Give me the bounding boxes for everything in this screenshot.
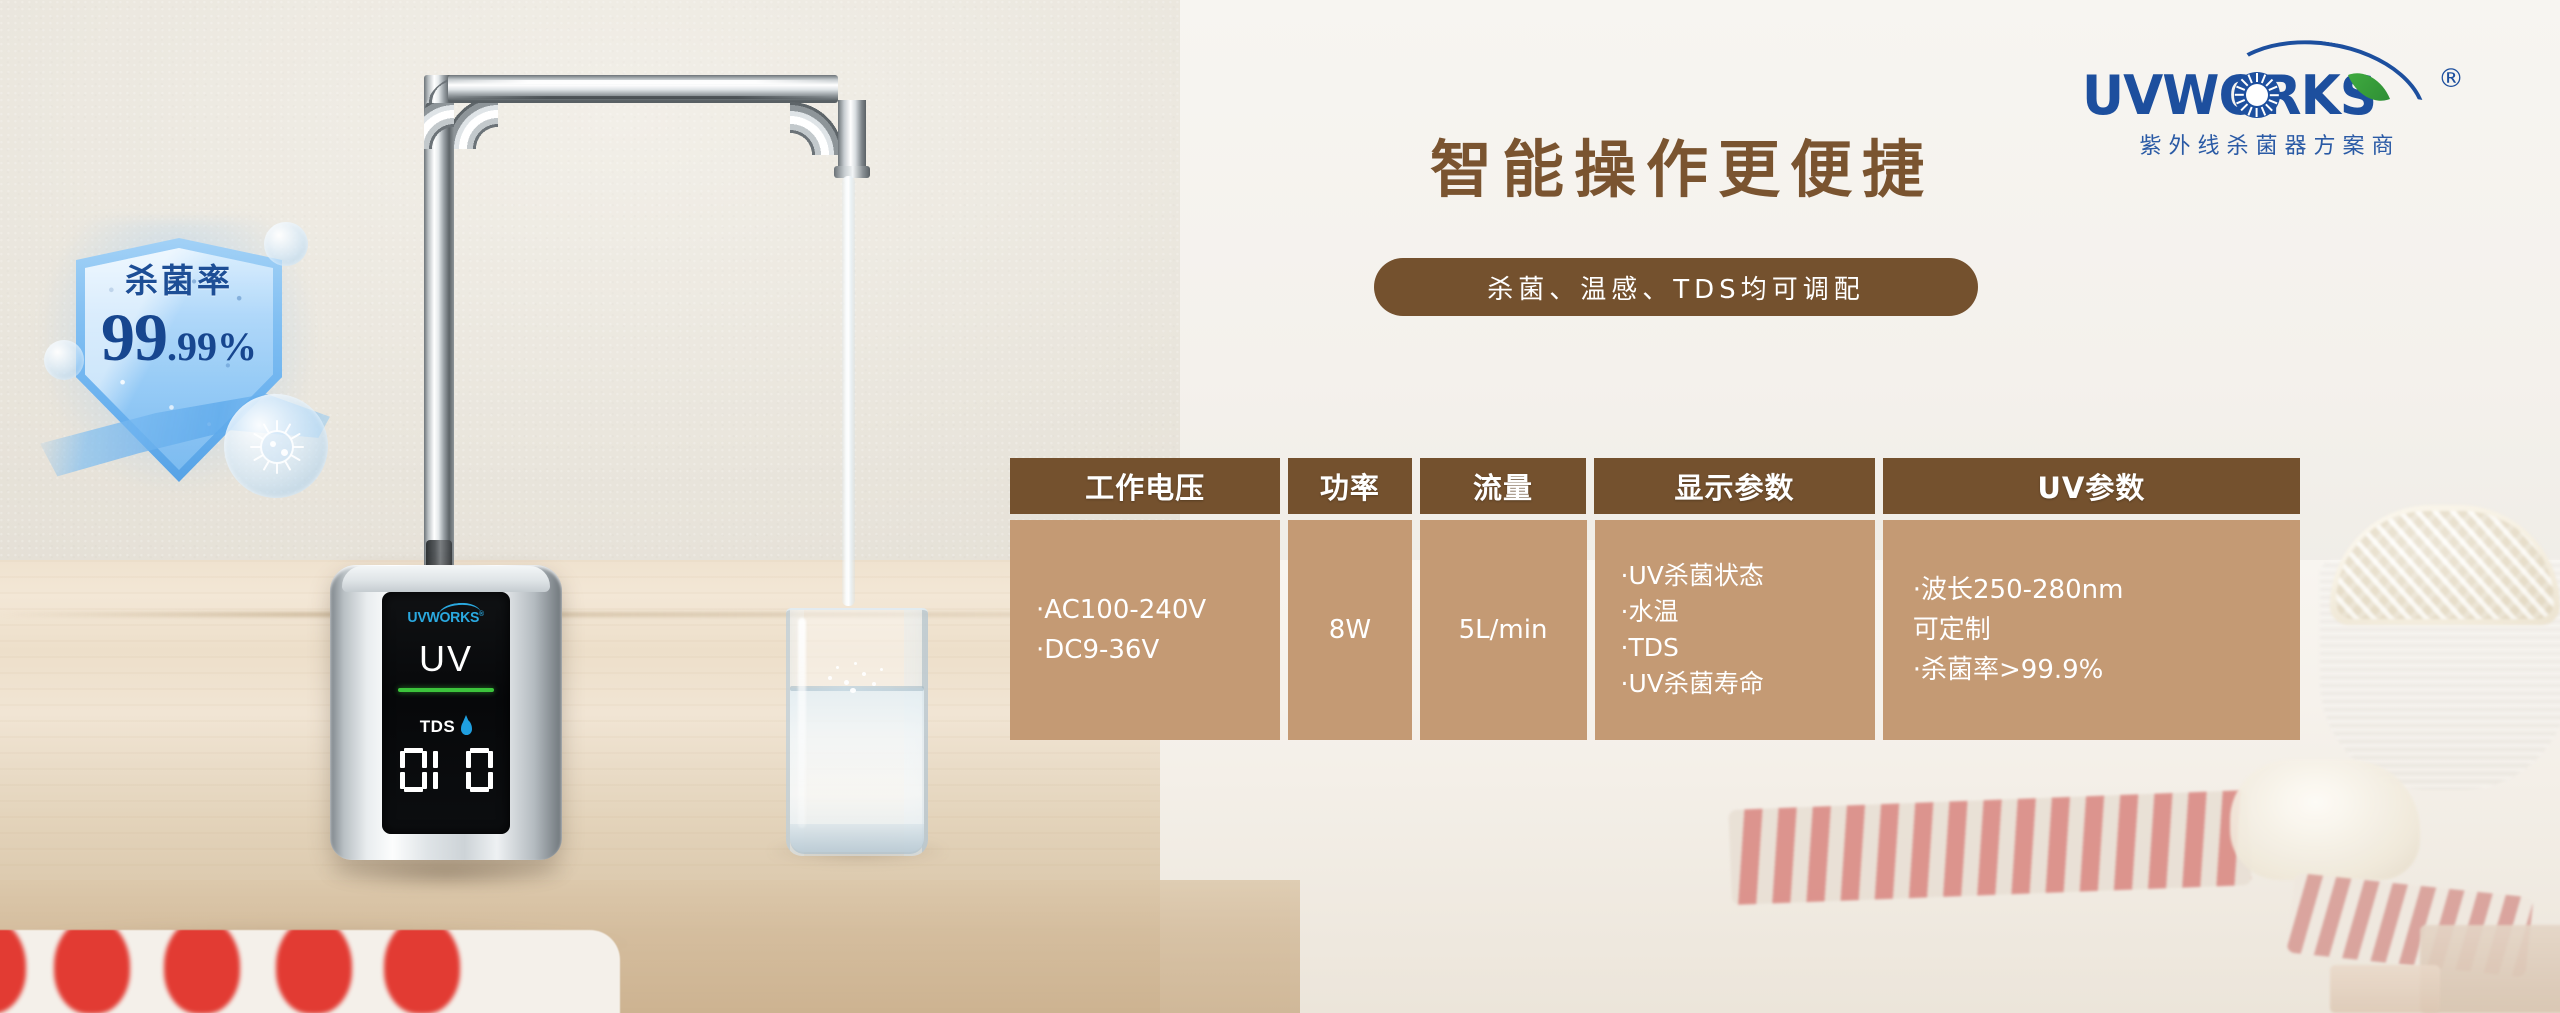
badge-value: 99.99% — [76, 303, 282, 371]
spec-body-cell: 8W — [1288, 520, 1411, 740]
screen-brand-logo: UVWORKS® — [408, 609, 484, 626]
banner-stage: UVWORKS® UV TDS — [0, 0, 2560, 1013]
spec-line: ·AC100-240V — [1036, 590, 1268, 630]
spec-header-cell: 功率 — [1288, 458, 1411, 514]
brand-logo[interactable]: UVWORKS ® 紫外线杀菌器方案商 — [2082, 36, 2482, 168]
faucet-shadow-line — [452, 96, 832, 99]
faucet-vertical-pipe — [424, 75, 454, 575]
spec-line: ·UV杀菌寿命 — [1621, 666, 1863, 702]
spec-header-cell: 显示参数 — [1594, 458, 1874, 514]
spec-line: 可定制 — [1913, 610, 2288, 650]
spec-line: ·波长250-280nm — [1913, 570, 2288, 610]
spec-body-cell: ·UV杀菌状态 ·水温 ·TDS ·UV杀菌寿命 — [1595, 520, 1875, 740]
device-display-screen[interactable]: UVWORKS® UV TDS — [382, 592, 510, 834]
seven-segment-digit — [433, 748, 460, 792]
brand-logo-mark: UVWORKS ® — [2082, 36, 2482, 122]
badge-text-group: 杀菌率 99.99% — [76, 264, 282, 371]
glass-highlight — [798, 618, 806, 828]
spec-table-header-row: 工作电压 功率 流量 显示参数 UV参数 — [1010, 458, 2300, 514]
logo-wordmark: UVWORKS — [2082, 64, 2376, 127]
brand-tagline: 紫外线杀菌器方案商 — [2084, 128, 2456, 160]
spec-line: 8W — [1329, 610, 1371, 650]
logo-sunburst-icon — [2234, 72, 2280, 118]
device-shadow — [326, 855, 566, 889]
spec-header-cell: 工作电压 — [1010, 458, 1280, 514]
spec-line: ·TDS — [1621, 630, 1863, 666]
decor-block — [2420, 925, 2560, 1013]
faucet-spout — [838, 100, 866, 172]
spec-body-cell: 5L/min — [1420, 520, 1587, 740]
sterilization-rate-badge: 杀菌率 99.99% — [28, 212, 328, 504]
spec-header-cell: UV参数 — [1883, 458, 2300, 514]
spec-line: 5L/min — [1459, 610, 1548, 650]
striped-cloth — [1728, 790, 2251, 905]
device-top-cap — [342, 566, 550, 592]
faucet-highlight — [452, 80, 832, 84]
screen-status-bar — [398, 688, 494, 692]
screen-tds-label: TDS — [420, 717, 456, 737]
headline-title: 智能操作更便捷 — [1372, 136, 1992, 204]
water-drop-icon — [461, 720, 472, 735]
badge-value-small: .99% — [167, 324, 257, 369]
headline-subtitle: 杀菌、温感、TDS均可调配 — [1487, 269, 1864, 306]
seven-segment-digit — [400, 748, 427, 792]
spec-line: ·杀菌率>99.9% — [1913, 650, 2288, 690]
logo-registered-mark: ® — [2438, 64, 2464, 94]
decor-block-small — [2330, 965, 2440, 1013]
germ-body — [260, 430, 294, 464]
headline-subtitle-pill: 杀菌、温感、TDS均可调配 — [1374, 258, 1978, 316]
seven-segment-digit — [466, 748, 493, 792]
yarn-ball-small — [2230, 760, 2420, 880]
screen-tds-row: TDS — [420, 717, 473, 737]
water-splash — [824, 658, 886, 698]
polka-dot-cloth — [0, 930, 620, 1013]
spec-line: ·水温 — [1621, 594, 1863, 630]
water-stream — [842, 176, 855, 606]
spec-table: 工作电压 功率 流量 显示参数 UV参数 ·AC100-240V ·DC9-36… — [1010, 458, 2300, 740]
spec-line: ·UV杀菌状态 — [1621, 558, 1863, 594]
badge-value-big: 99 — [101, 299, 167, 375]
glass-base — [790, 824, 924, 854]
germ-icon — [246, 416, 308, 478]
spec-header-cell: 流量 — [1420, 458, 1587, 514]
screen-tds-value — [400, 748, 493, 792]
spec-line: ·DC9-36V — [1036, 630, 1268, 670]
spec-body-cell: ·AC100-240V ·DC9-36V — [1010, 520, 1280, 740]
spec-body-cell: ·波长250-280nm 可定制 ·杀菌率>99.9% — [1883, 520, 2300, 740]
screen-mode-label: UV — [419, 641, 473, 677]
badge-label: 杀菌率 — [76, 264, 282, 297]
bubble-icon — [264, 222, 308, 266]
spec-table-body-row: ·AC100-240V ·DC9-36V 8W 5L/min ·UV杀菌状态 ·… — [1010, 520, 2300, 740]
